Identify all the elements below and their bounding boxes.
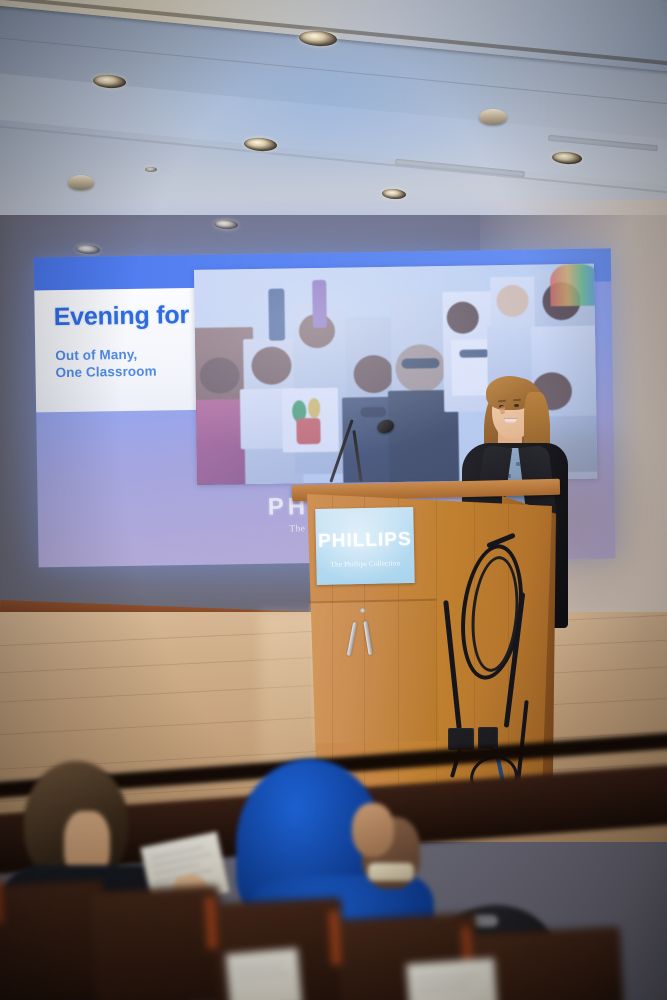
handout-paper-right: [406, 958, 497, 1000]
ceiling: [0, 0, 667, 215]
audience-foreground: [0, 755, 667, 1000]
slide-subtitle: Out of Many, One Classroom: [55, 346, 157, 382]
cabinet-lock-icon: [360, 608, 365, 613]
downlight-icon-8: [145, 167, 157, 172]
podium-sign: PHILLIPS The Phillips Collection: [315, 507, 415, 585]
slide-subtitle-line-2: One Classroom: [55, 363, 156, 382]
podium-sign-glare: [315, 507, 415, 585]
speaker-nose: [500, 406, 505, 414]
podium-cabinet-doors[interactable]: [309, 599, 440, 744]
sprinkler-icon-1: [479, 109, 507, 125]
handout-paper-center: [226, 948, 303, 1000]
slide-subtitle-line-1: Out of Many,: [55, 346, 156, 365]
sprinkler-icon-2: [68, 175, 94, 190]
photo-scene: Evening for Educators Out of Many, One C…: [0, 0, 667, 1000]
